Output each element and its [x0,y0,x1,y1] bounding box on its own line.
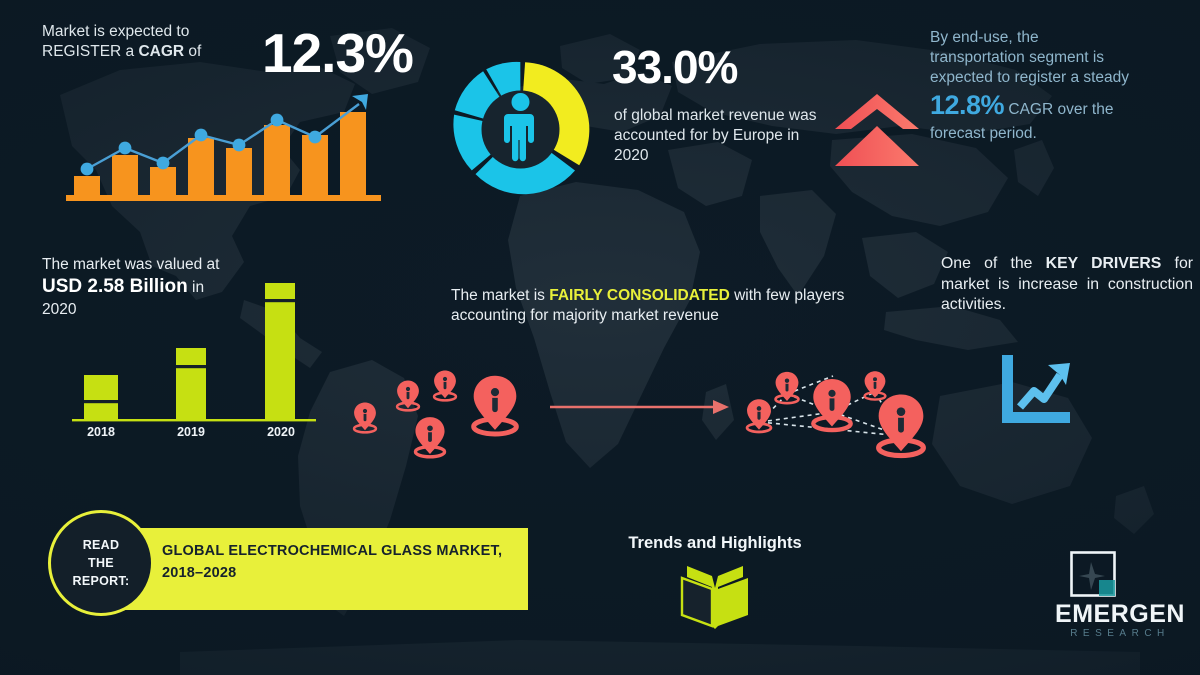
enduse-caption: By end-use, the transportation segment i… [930,28,1192,144]
europe-share-description: of global market revenue was accounted f… [614,106,829,166]
drivers-pre: One of the [941,255,1046,272]
valuation-lead: The market was valued at [42,256,219,273]
up-arrow-icon [833,92,921,168]
cagr-caption-line1: Market is expected to [42,23,189,40]
emergen-research-logo: EMERGEN RESEARCH [1045,550,1195,646]
read-line3: REPORT: [73,574,130,588]
enduse-line3: expected to register a steady [930,69,1129,86]
market-pins-diagram [335,352,935,462]
cagr-caption-line2-post: of [184,43,201,60]
trends-title: Trends and Highlights [600,533,830,554]
enduse-cagr-value: 12.8% [930,90,1004,120]
report-banner-title: GLOBAL ELECTROCHEMICAL GLASS MARKET, 201… [162,540,522,585]
europe-share-value: 33.0% [612,38,737,98]
logo-square-icon [1069,550,1117,598]
pin-group-scattered [354,371,516,457]
consolidated-highlight: FAIRLY CONSOLIDATED [549,287,730,304]
cagr-value: 12.3% [262,18,413,90]
transition-arrow [550,400,729,414]
cagr-caption: Market is expected to REGISTER a CAGR of [42,22,272,62]
growth-chart-icon [996,353,1076,425]
key-drivers-caption: One of the KEY DRIVERS for market is inc… [941,254,1193,316]
pin-group-connected [747,371,923,455]
read-the-report-badge[interactable]: READ THE REPORT: [48,510,154,616]
read-the-report-label: READ THE REPORT: [73,536,130,590]
consolidated-caption: The market is FAIRLY CONSOLIDATED with f… [451,286,851,326]
svg-text:2018: 2018 [87,425,115,439]
read-line1: READ [83,538,120,552]
enduse-line2: transportation segment is [930,49,1104,66]
valuation-bar-chart: 2018 2019 2020 [72,275,322,443]
europe-donut-chart [443,52,598,207]
open-book-icon [678,562,752,630]
svg-text:2019: 2019 [177,425,205,439]
enduse-line5: forecast period. [930,125,1037,142]
svg-text:2020: 2020 [267,425,295,439]
consolidated-pre: The market is [451,287,549,304]
logo-wordmark: EMERGEN [1045,600,1195,629]
enduse-line1: By end-use, the [930,29,1039,46]
cagr-caption-line2-pre: REGISTER a [42,43,138,60]
cagr-caption-bold: CAGR [138,43,184,60]
logo-subtitle: RESEARCH [1045,628,1195,639]
read-line2: THE [88,556,114,570]
enduse-line4: CAGR over the [1004,101,1113,118]
cagr-bar-chart [66,82,381,207]
drivers-bold: KEY DRIVERS [1046,255,1162,272]
